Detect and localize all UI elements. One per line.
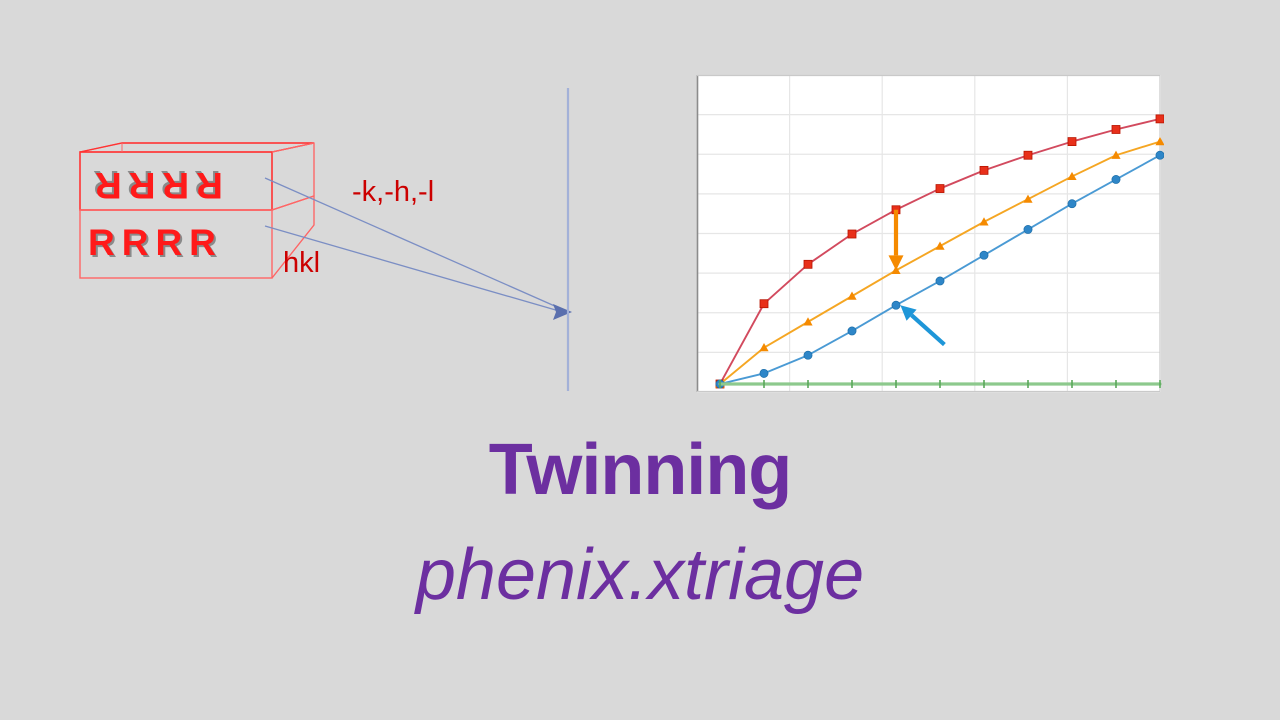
box-middle-divider (272, 196, 314, 210)
chart-marker-square (1068, 138, 1076, 146)
chart-marker-square (1112, 125, 1120, 133)
chart-marker-circle (1156, 151, 1164, 159)
page-subtitle: phenix.xtriage (0, 535, 1280, 615)
chart-marker-circle (892, 301, 900, 309)
box-side-upper (272, 143, 314, 210)
chart-marker-circle (936, 277, 944, 285)
chart-marker-square (848, 230, 856, 238)
chart-marker-circle (804, 351, 812, 359)
chart-marker-square (1156, 115, 1164, 123)
chart-svg (694, 72, 1164, 395)
chart-marker-circle (848, 327, 856, 335)
chart-marker-circle (980, 251, 988, 259)
chart-marker-square (1024, 151, 1032, 159)
chart-marker-square (936, 185, 944, 193)
slide-canvas: RRRR RRRR -k,-h,-l hkl Twinning phenix.x… (0, 0, 1280, 720)
chart-marker-circle (760, 369, 768, 377)
crystal-twin-diagram: RRRR RRRR -k,-h,-l hkl (0, 0, 620, 420)
ray-arrowhead-icon (553, 304, 572, 320)
chart-marker-circle (1024, 225, 1032, 233)
chart-marker-square (804, 260, 812, 268)
page-title: Twinning (0, 432, 1280, 508)
chart-marker-square (980, 166, 988, 174)
chart-marker-circle (1068, 200, 1076, 208)
intensity-statistics-chart (694, 72, 1164, 395)
diagram-svg (0, 0, 620, 420)
label-minus-k-minus-h-minus-l: -k,-h,-l (352, 176, 434, 209)
chart-marker-square (760, 300, 768, 308)
crystal-layer-bottom-text: RRRR (88, 222, 223, 264)
crystal-layer-top-text: RRRR (88, 164, 223, 206)
label-hkl: hkl (283, 247, 320, 280)
chart-marker-circle (1112, 175, 1120, 183)
